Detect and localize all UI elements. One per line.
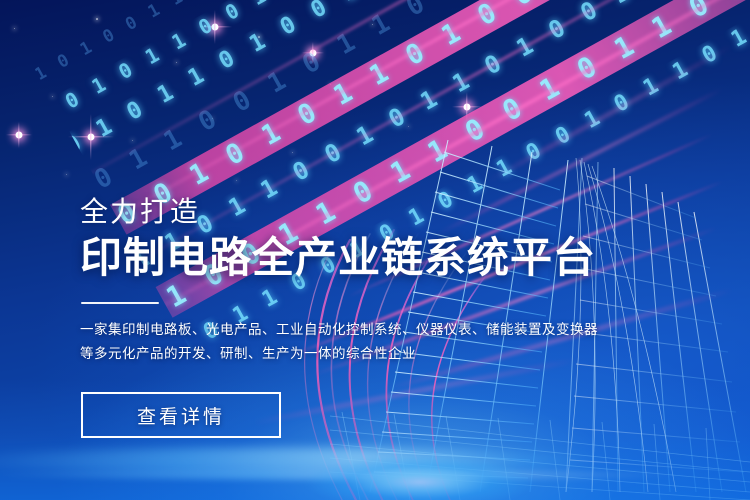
star-decoration: [212, 118, 213, 119]
star-decoration: [14, 28, 15, 29]
sparkle-star-decoration: [6, 122, 32, 148]
sparkle-star-decoration: [198, 10, 232, 44]
hero-banner: 1 0 1 1 0 1 0 0 1 1 0 1 1 0 0 1 0 1 1 0 …: [0, 0, 750, 500]
sparkle-star-decoration: [302, 42, 324, 64]
banner-eyebrow: 全力打造: [80, 196, 640, 228]
star-decoration: [176, 62, 177, 63]
star-decoration: [52, 96, 53, 97]
star-decoration: [236, 180, 237, 181]
title-divider: [81, 302, 159, 304]
star-decoration: [292, 152, 293, 153]
star-decoration: [96, 18, 98, 20]
star-decoration: [258, 36, 260, 38]
star-decoration: [66, 174, 67, 175]
star-decoration: [132, 140, 133, 141]
banner-description: 一家集印制电路板、光电产品、工业自动化控制系统、仪器仪表、储能装置及变换器 等多…: [80, 318, 640, 366]
sparkle-star-decoration: [68, 114, 114, 160]
star-decoration: [372, 24, 373, 25]
banner-headline: 印制电路全产业链系统平台: [80, 234, 640, 282]
description-line-1: 一家集印制电路板、光电产品、工业自动化控制系统、仪器仪表、储能装置及变换器: [80, 318, 640, 342]
view-details-button[interactable]: 查看详情: [81, 392, 281, 438]
star-decoration: [330, 84, 331, 85]
banner-content: 全力打造 印制电路全产业链系统平台 一家集印制电路板、光电产品、工业自动化控制系…: [80, 196, 640, 438]
description-line-2: 等多元化产品的开发、研制、生产为一体的综合性企业: [80, 342, 640, 366]
